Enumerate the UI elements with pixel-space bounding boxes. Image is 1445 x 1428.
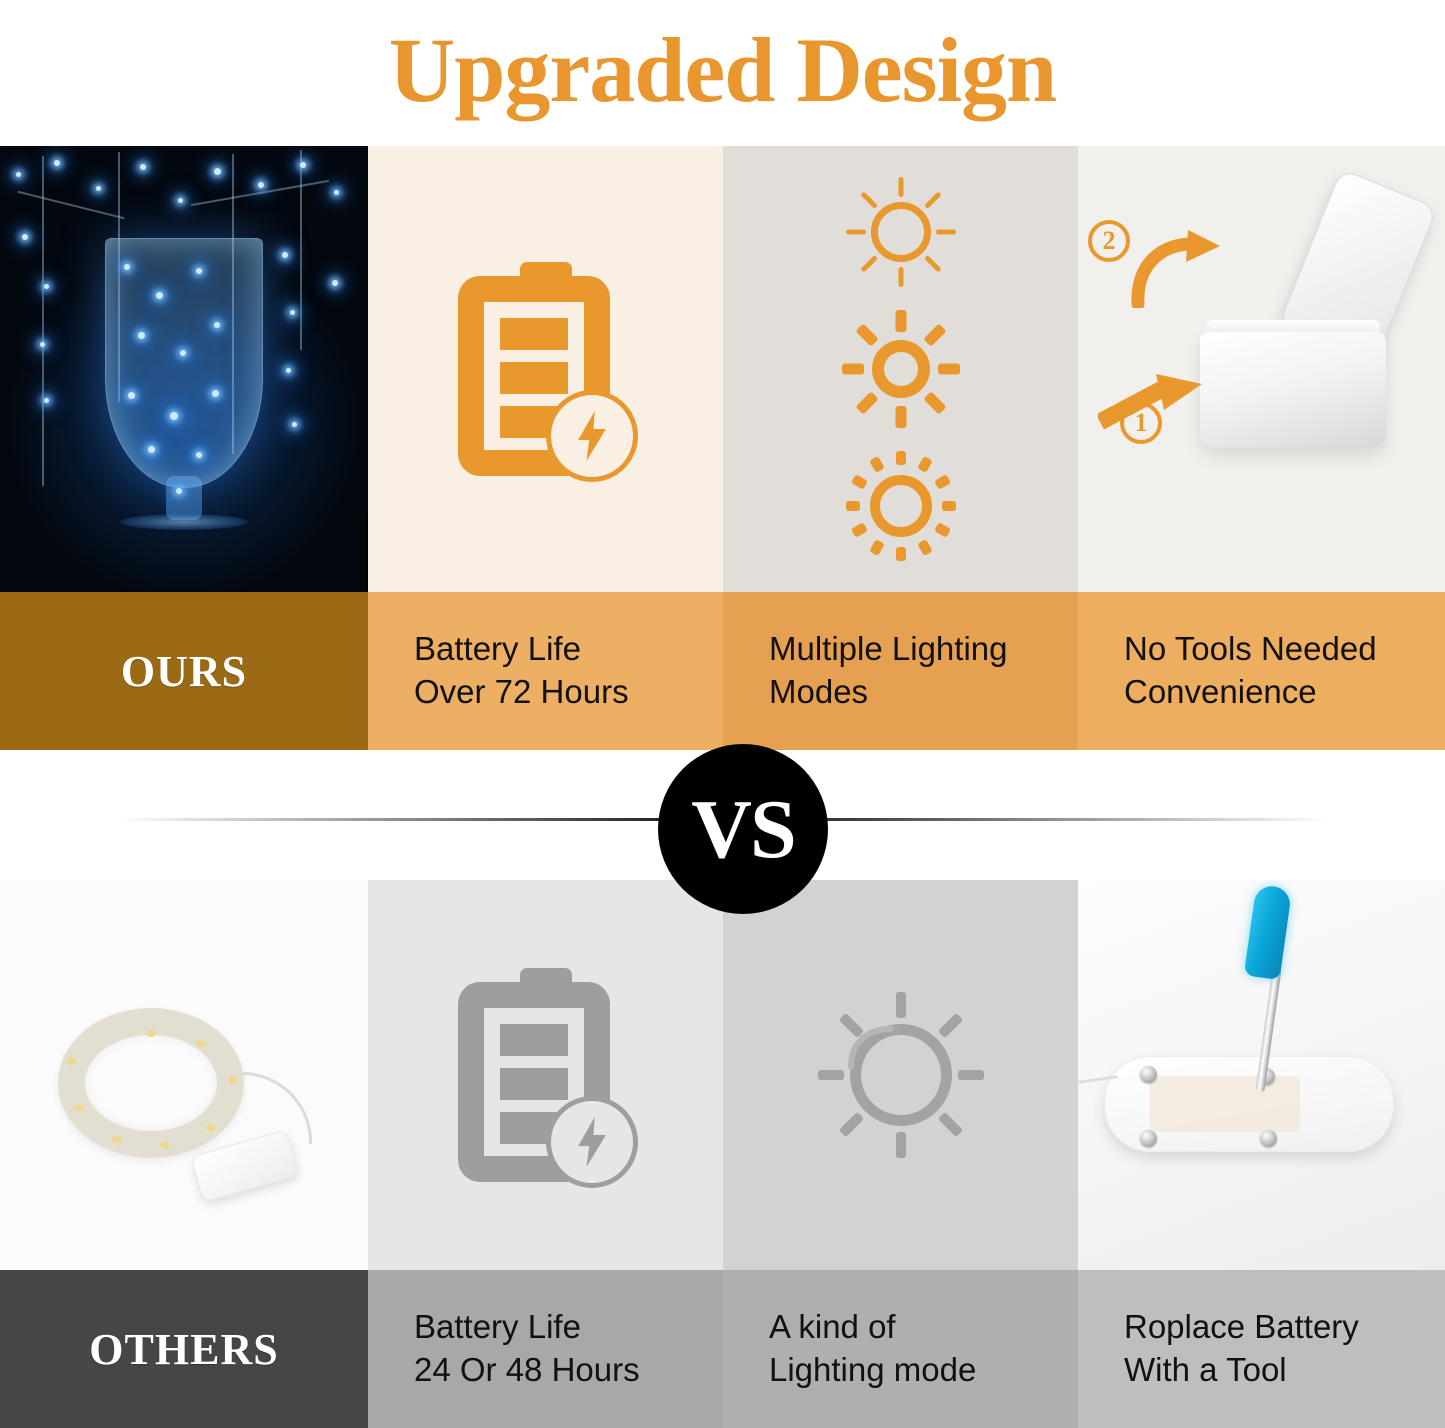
others-feature-1-cell: Battery Life 24 Or 48 Hours [368, 1270, 723, 1428]
led-bead [206, 1124, 216, 1131]
sun-ray [942, 501, 956, 511]
ours-brand-label: OURS [0, 592, 368, 750]
others-screwdriver-cell [1078, 880, 1445, 1270]
step-number-1: 1 [1120, 402, 1162, 444]
vase-foot [120, 514, 248, 530]
sun-ray [855, 323, 878, 346]
ours-battery-icon-cell [368, 146, 723, 592]
sun-ray [937, 1013, 962, 1038]
sun-ray [896, 1132, 906, 1158]
sun-ray [850, 522, 867, 538]
sun-ray [842, 363, 864, 374]
sun-ray [934, 522, 951, 538]
led-point [40, 342, 45, 347]
battery-box-base [1200, 332, 1386, 448]
screw-icon [1140, 1066, 1157, 1083]
light-wire [118, 152, 120, 402]
led-point [290, 310, 295, 315]
divider-line-left [118, 818, 688, 821]
ours-feature-2-text: Multiple Lighting Modes [723, 592, 1078, 750]
ours-battery-box-cell: 2 1 [1078, 146, 1445, 592]
sun-ray [917, 539, 933, 556]
led-bead [66, 1058, 76, 1065]
led-point [214, 322, 220, 328]
feature-line-2: Lighting mode [769, 1349, 1068, 1392]
feature-line-2: Modes [769, 671, 1068, 714]
led-point [214, 168, 221, 175]
ours-brand-cell: OURS [0, 592, 368, 750]
screwdriver-handle [1244, 884, 1292, 980]
sun-ray [923, 255, 941, 273]
others-battery-icon-cell [368, 880, 723, 1270]
sun-ray [896, 547, 906, 561]
led-bead [146, 1030, 156, 1037]
sun-ray [838, 1112, 863, 1137]
ours-comparison-block: 2 1 OURS Battery Life Over 72 Hours Mult… [0, 146, 1445, 750]
sun-ray [846, 230, 866, 235]
led-point [16, 172, 21, 177]
others-product-photo-coil [0, 880, 368, 1270]
sun-mode-1-icon [842, 173, 960, 291]
feature-line-2: With a Tool [1124, 1349, 1435, 1392]
sun-ray [934, 474, 951, 490]
battery-slot [1150, 1076, 1300, 1132]
others-brand-cell: OTHERS [0, 1270, 368, 1428]
icon-center [368, 146, 723, 592]
ours-feature-1-text: Battery Life Over 72 Hours [368, 592, 723, 750]
ours-feature-1-cell: Battery Life Over 72 Hours [368, 592, 723, 750]
feature-line-1: Roplace Battery [1124, 1306, 1435, 1349]
feature-line-1: No Tools Needed [1124, 628, 1435, 671]
sun-ray [895, 406, 906, 428]
feature-line-1: A kind of [769, 1306, 1068, 1349]
vase-body [105, 238, 263, 488]
battery-box-open-lid-photo: 2 1 [1078, 146, 1445, 592]
sun-ray [936, 230, 956, 235]
screw-icon [1140, 1130, 1157, 1147]
led-point [156, 292, 163, 299]
arrow-open-lid-icon [1126, 230, 1222, 308]
page-title-area: Upgraded Design [0, 0, 1445, 140]
sun-ray [937, 1112, 962, 1137]
others-media-row [0, 880, 1445, 1270]
ours-feature-2-cell: Multiple Lighting Modes [723, 592, 1078, 750]
led-point [124, 264, 130, 270]
led-bead [112, 1136, 122, 1143]
led-point [22, 234, 28, 240]
others-label-row: OTHERS Battery Life 24 Or 48 Hours A kin… [0, 1270, 1445, 1428]
sun-ray [850, 474, 867, 490]
others-feature-1-text: Battery Life 24 Or 48 Hours [368, 1270, 723, 1428]
sun-ray [869, 456, 885, 473]
led-point [300, 162, 306, 168]
others-feature-2-cell: A kind of Lighting mode [723, 1270, 1078, 1428]
single-sun-mode-icon [817, 991, 985, 1159]
led-point [96, 186, 101, 191]
sun-ring [871, 202, 931, 262]
sun-mode-3-icon [842, 447, 960, 565]
icon-center [368, 880, 723, 1270]
led-point [196, 452, 202, 458]
led-point [286, 368, 291, 373]
light-wire [300, 150, 302, 350]
sun-ray [846, 501, 860, 511]
light-wire [42, 156, 44, 486]
feature-line-2: Convenience [1124, 671, 1435, 714]
step-number-2: 2 [1088, 220, 1130, 262]
feature-line-1: Multiple Lighting [769, 628, 1068, 671]
divider-line-right [760, 818, 1330, 821]
feature-line-1: Battery Life [414, 628, 713, 671]
lightning-bolt-icon [575, 411, 609, 461]
light-wire [232, 154, 234, 454]
vase-scene [0, 146, 368, 592]
sun-ray [917, 456, 933, 473]
feature-line-2: Over 72 Hours [414, 671, 713, 714]
page-title: Upgraded Design [389, 24, 1056, 116]
sun-ray [869, 539, 885, 556]
sun-ring [872, 340, 930, 398]
led-point [334, 190, 339, 195]
battery-bar [500, 1068, 568, 1100]
feature-line-2: 24 Or 48 Hours [414, 1349, 713, 1392]
sun-ray [923, 192, 941, 210]
sun-ray [895, 310, 906, 332]
sun-ray [896, 992, 906, 1018]
sun-ray [923, 391, 946, 414]
led-point [138, 332, 145, 339]
screw-icon [1260, 1130, 1277, 1147]
icon-center [723, 880, 1078, 1270]
sun-ray [958, 1070, 984, 1080]
vs-badge: VS [658, 744, 828, 914]
led-bead [160, 1142, 170, 1149]
light-wire [17, 191, 124, 220]
led-point [212, 390, 219, 397]
battery-charging-icon [458, 262, 634, 476]
lightning-bolt-icon [575, 1117, 609, 1167]
others-lighting-mode-cell [723, 880, 1078, 1270]
bolt-badge [546, 390, 638, 482]
sun-ray [938, 363, 960, 374]
led-bead [74, 1104, 84, 1111]
ours-feature-3-cell: No Tools Needed Convenience [1078, 592, 1445, 750]
battery-bar [500, 362, 568, 394]
sun-ray [923, 323, 946, 346]
others-comparison-block: OTHERS Battery Life 24 Or 48 Hours A kin… [0, 880, 1445, 1428]
bolt-badge [546, 1096, 638, 1188]
led-point [196, 268, 202, 274]
sun-ray [860, 192, 878, 210]
sun-ray [896, 451, 906, 465]
led-point [140, 164, 146, 170]
battery-charging-icon [458, 968, 634, 1182]
ours-label-row: OURS Battery Life Over 72 Hours Multiple… [0, 592, 1445, 750]
led-bead [196, 1040, 206, 1047]
vs-badge-label: VS [691, 781, 794, 878]
led-point [332, 280, 338, 286]
sun-ray [860, 255, 878, 273]
led-bead [228, 1076, 238, 1083]
led-point [176, 488, 182, 494]
led-point [44, 284, 49, 289]
screwdriver-battery-pack-photo [1078, 880, 1445, 1270]
sun-ray [898, 177, 903, 197]
led-point [148, 446, 155, 453]
sun-mode-2-icon [842, 310, 960, 428]
others-feature-2-text: A kind of Lighting mode [723, 1270, 1078, 1428]
pointer-triangle-icon [366, 514, 368, 592]
comparison-infographic: Upgraded Design [0, 0, 1445, 1428]
led-point [180, 350, 186, 356]
sun-highlight-arc [845, 1021, 901, 1077]
sun-ray [855, 391, 878, 414]
others-brand-label: OTHERS [0, 1270, 368, 1428]
sun-ray [898, 267, 903, 287]
battery-bar [500, 1024, 568, 1056]
ours-lighting-modes-cell [723, 146, 1078, 592]
others-feature-3-cell: Roplace Battery With a Tool [1078, 1270, 1445, 1428]
led-point [128, 392, 135, 399]
led-point [282, 252, 288, 258]
feature-line-1: Battery Life [414, 1306, 713, 1349]
sun-ray [818, 1070, 844, 1080]
ours-feature-3-text: No Tools Needed Convenience [1078, 592, 1445, 750]
led-point [170, 412, 178, 420]
battery-bar [500, 318, 568, 350]
sun-ring [870, 475, 932, 537]
ours-product-photo-vase [0, 146, 368, 592]
coiled-fairy-light-wire-photo [0, 880, 368, 1270]
others-feature-3-text: Roplace Battery With a Tool [1078, 1270, 1445, 1428]
led-point [54, 160, 60, 166]
three-sun-modes-icon [723, 146, 1078, 592]
ours-media-row: 2 1 [0, 146, 1445, 592]
led-point [258, 182, 264, 188]
led-point [44, 398, 49, 403]
led-point [178, 198, 183, 203]
led-point [292, 422, 297, 427]
